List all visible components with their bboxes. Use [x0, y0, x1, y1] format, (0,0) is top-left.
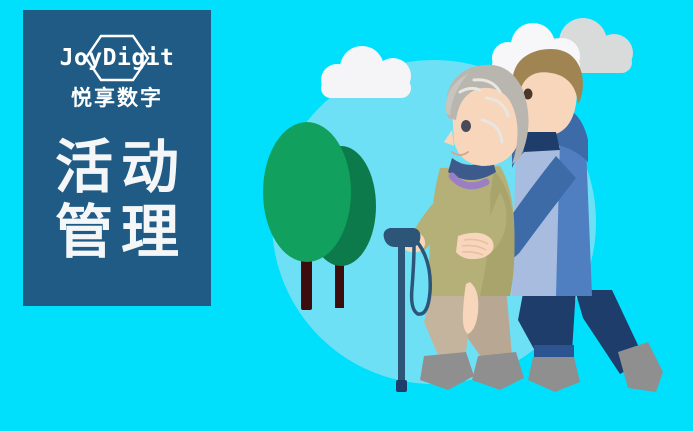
title-panel: JoyDigit 悦享数字 活动 管理	[23, 10, 211, 306]
logo-chinese-name: 悦享数字	[71, 88, 163, 109]
activity-management-banner: JoyDigit 悦享数字 活动 管理	[0, 0, 693, 431]
woman-eye	[461, 120, 471, 132]
young-man-cuff	[534, 345, 574, 357]
logo-mark: JoyDigit	[42, 34, 192, 82]
page-title: 活动 管理	[23, 135, 211, 265]
brand-logo: JoyDigit 悦享数字	[23, 34, 211, 109]
logo-wordmark: JoyDigit	[42, 34, 192, 82]
cane-handle	[384, 228, 421, 247]
cane-shaft	[398, 245, 405, 390]
page-title-line-1: 活动	[47, 135, 187, 200]
page-title-line-2: 管理	[47, 200, 187, 265]
cane-tip	[396, 380, 407, 392]
